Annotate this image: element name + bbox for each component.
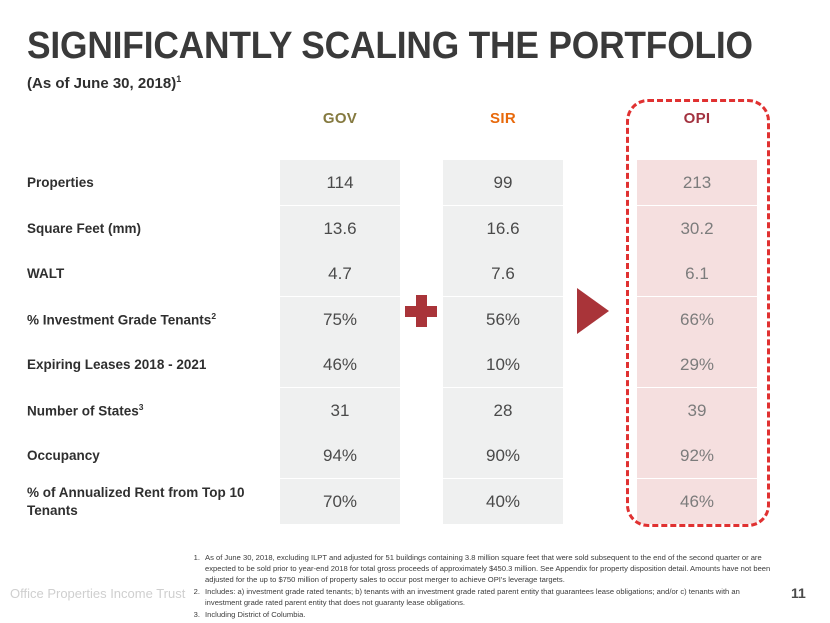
table-cell-sir: 28 — [443, 388, 563, 433]
table-cell-sir: 40% — [443, 479, 563, 524]
row-label: % Investment Grade Tenants2 — [27, 311, 277, 330]
table-cell-opi: 46% — [637, 479, 757, 524]
footnote-number: 3. — [188, 609, 205, 620]
footnote-item: 1.As of June 30, 2018, excluding ILPT an… — [188, 552, 776, 586]
row-label-footnote-marker: 2 — [211, 311, 216, 321]
row-label: Square Feet (mm) — [27, 220, 277, 238]
comparison-table: GOV SIR OPI Properties11499213Square Fee… — [0, 0, 830, 540]
table-cell-sir: 90% — [443, 433, 563, 478]
table-cell-sir: 99 — [443, 160, 563, 205]
table-cell-sir: 56% — [443, 297, 563, 342]
table-cell-opi: 66% — [637, 297, 757, 342]
table-cell-gov: 31 — [280, 388, 400, 433]
row-label-text: % Investment Grade Tenants — [27, 312, 211, 327]
footnote-item: 2.Includes: a) investment grade rated te… — [188, 586, 776, 608]
table-cell-gov: 114 — [280, 160, 400, 205]
row-label-text: WALT — [27, 266, 64, 281]
column-header-opi: OPI — [637, 110, 757, 127]
plus-icon-vertical-bar — [416, 295, 427, 327]
table-cell-gov: 94% — [280, 433, 400, 478]
row-label: Occupancy — [27, 447, 277, 465]
table-cell-opi: 39 — [637, 388, 757, 433]
row-label-footnote-marker: 3 — [139, 402, 144, 412]
footnote-number: 1. — [188, 552, 205, 586]
row-label: Properties — [27, 174, 277, 192]
row-label-text: Occupancy — [27, 448, 100, 463]
row-label-text: % of Annualized Rent from Top 10 Tenants — [27, 485, 245, 518]
footnote-text: Includes: a) investment grade rated tena… — [205, 586, 776, 608]
footnote-number: 2. — [188, 586, 205, 608]
footnote-text: As of June 30, 2018, excluding ILPT and … — [205, 552, 776, 586]
right-arrow-icon — [577, 288, 609, 334]
row-label: Expiring Leases 2018 - 2021 — [27, 356, 277, 374]
table-cell-sir: 7.6 — [443, 251, 563, 296]
table-cell-opi: 213 — [637, 160, 757, 205]
plus-icon — [405, 295, 437, 327]
table-cell-sir: 10% — [443, 342, 563, 387]
table-cell-gov: 13.6 — [280, 206, 400, 251]
row-label: WALT — [27, 265, 277, 283]
footnotes: 1.As of June 30, 2018, excluding ILPT an… — [188, 552, 776, 621]
table-cell-opi: 30.2 — [637, 206, 757, 251]
row-label-text: Number of States — [27, 403, 139, 418]
column-header-gov: GOV — [280, 110, 400, 127]
row-label: Number of States3 — [27, 402, 277, 421]
table-cell-gov: 4.7 — [280, 251, 400, 296]
footnote-item: 3.Including District of Columbia. — [188, 609, 776, 620]
table-cell-gov: 46% — [280, 342, 400, 387]
table-cell-opi: 92% — [637, 433, 757, 478]
table-cell-gov: 75% — [280, 297, 400, 342]
table-cell-sir: 16.6 — [443, 206, 563, 251]
footnote-text: Including District of Columbia. — [205, 609, 776, 620]
table-cell-gov: 70% — [280, 479, 400, 524]
table-cell-opi: 29% — [637, 342, 757, 387]
row-label-text: Properties — [27, 175, 94, 190]
column-header-sir: SIR — [443, 110, 563, 127]
table-cell-opi: 6.1 — [637, 251, 757, 296]
row-label: % of Annualized Rent from Top 10 Tenants — [27, 484, 277, 520]
row-label-text: Expiring Leases 2018 - 2021 — [27, 357, 206, 372]
page-number: 11 — [791, 585, 806, 601]
row-label-text: Square Feet (mm) — [27, 221, 141, 236]
company-brand-label: Office Properties Income Trust — [10, 586, 185, 601]
